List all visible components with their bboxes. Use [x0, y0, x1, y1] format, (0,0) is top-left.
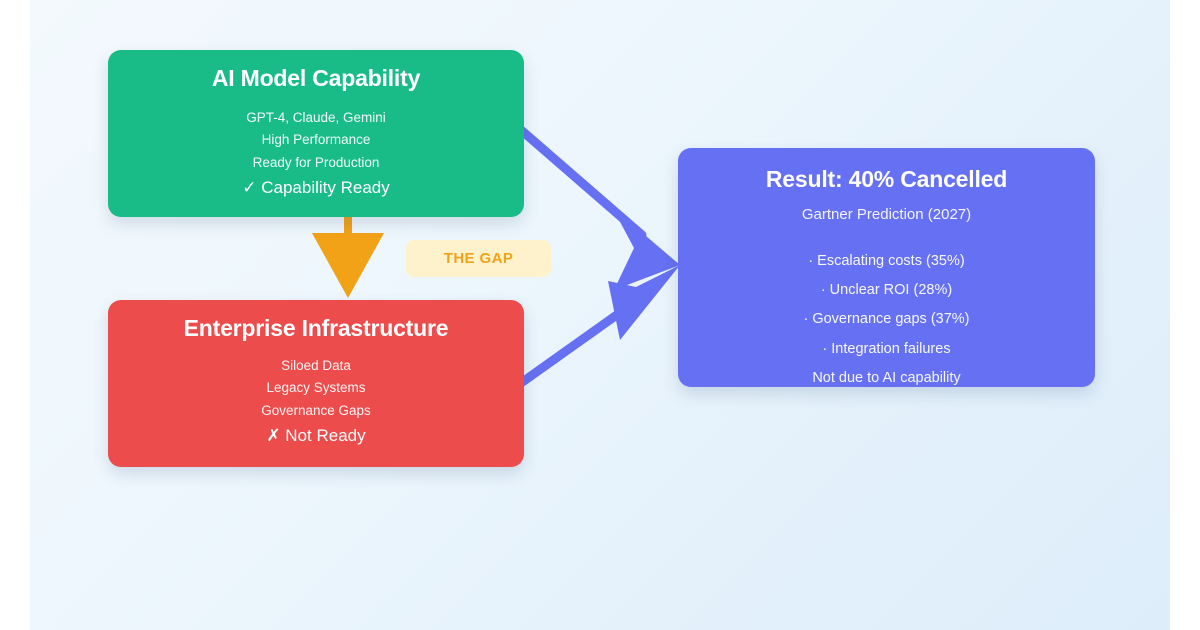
infrastructure-to-result-arrow-icon	[521, 265, 680, 383]
gap-arrow-icon	[312, 217, 384, 298]
diagram-stage: AI Model Capability GPT-4, Claude, Gemin…	[0, 0, 1200, 630]
infrastructure-line-1: Siloed Data	[108, 355, 524, 378]
gap-badge-label: THE GAP	[444, 250, 513, 267]
capability-line-1: GPT-4, Claude, Gemini	[108, 107, 524, 130]
diagram-canvas: AI Model Capability GPT-4, Claude, Gemin…	[30, 0, 1170, 630]
the-gap-badge: THE GAP	[406, 240, 551, 277]
capability-title: AI Model Capability	[108, 64, 524, 93]
infrastructure-line-2: Legacy Systems	[108, 377, 524, 400]
infrastructure-status-badge: ✗ Not Ready	[108, 423, 524, 449]
result-reason-1: · Escalating costs (35%)	[678, 247, 1095, 276]
result-reason-4: · Integration failures	[678, 335, 1095, 364]
node-result-cancelled[interactable]: Result: 40% Cancelled Gartner Prediction…	[678, 148, 1095, 387]
node-ai-model-capability[interactable]: AI Model Capability GPT-4, Claude, Gemin…	[108, 50, 524, 217]
result-subtitle: Gartner Prediction (2027)	[678, 204, 1095, 225]
result-title: Result: 40% Cancelled	[678, 165, 1095, 194]
result-reason-2: · Unclear ROI (28%)	[678, 276, 1095, 305]
result-footnote: Not due to AI capability	[678, 364, 1095, 393]
infrastructure-title: Enterprise Infrastructure	[108, 314, 524, 343]
capability-line-3: Ready for Production	[108, 152, 524, 175]
node-enterprise-infrastructure[interactable]: Enterprise Infrastructure Siloed Data Le…	[108, 300, 524, 467]
infrastructure-line-3: Governance Gaps	[108, 400, 524, 423]
capability-line-2: High Performance	[108, 129, 524, 152]
capability-status-badge: ✓ Capability Ready	[108, 175, 524, 201]
result-reason-3: · Governance gaps (37%)	[678, 305, 1095, 334]
